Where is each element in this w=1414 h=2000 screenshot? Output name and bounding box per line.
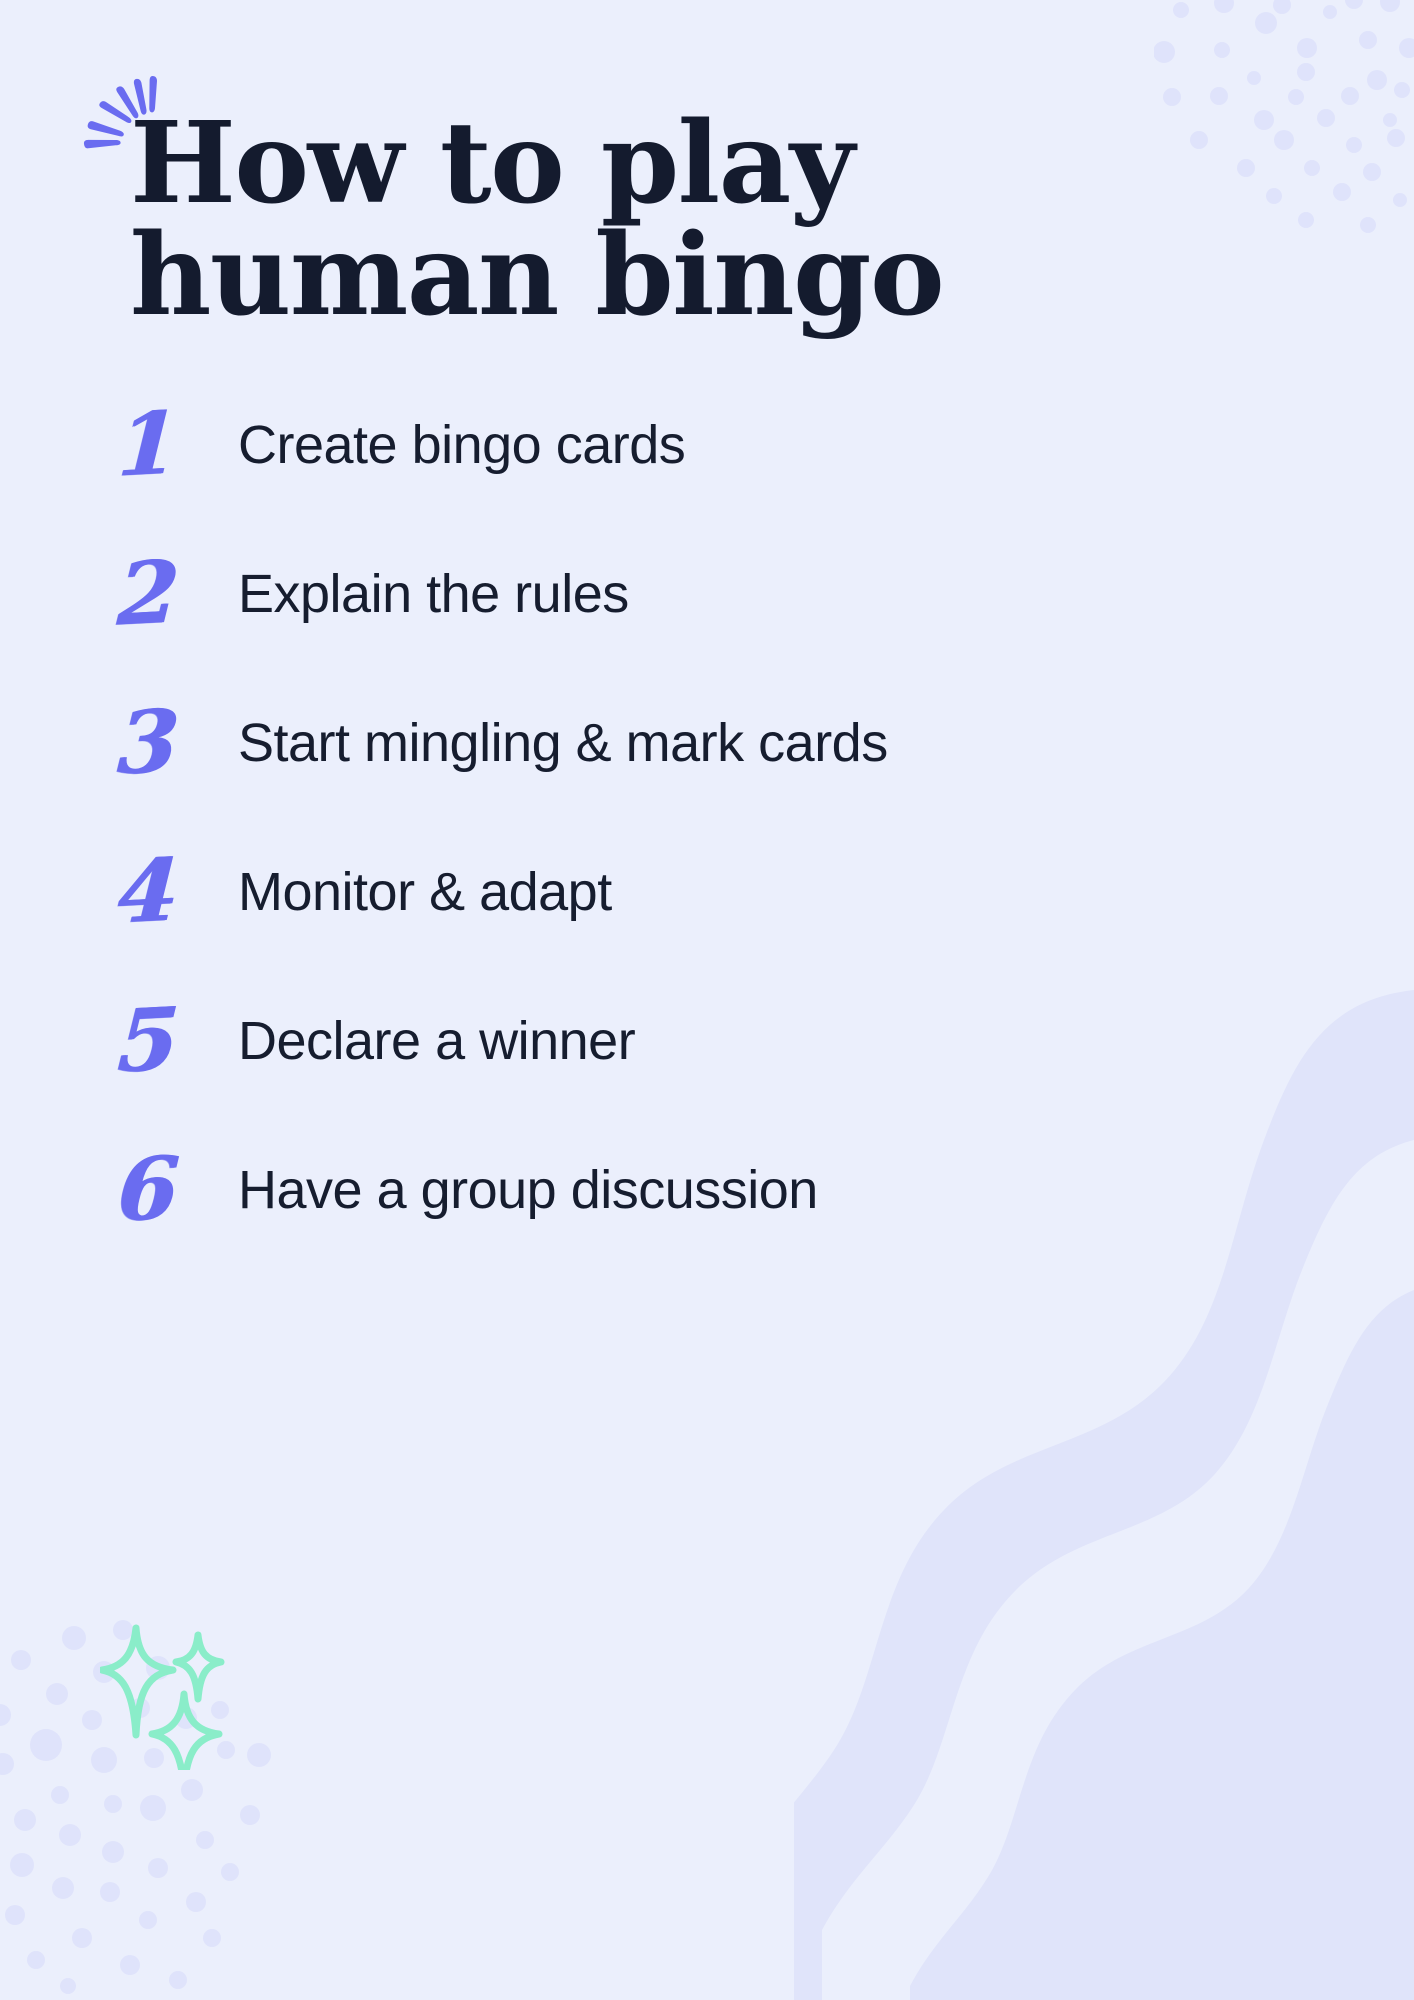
list-item: 6 Have a group discussion [118,1115,1268,1264]
step-number: 1 [116,400,181,489]
list-item: 5 Declare a winner [118,966,1268,1115]
step-label: Explain the rules [238,567,629,621]
step-label: Have a group discussion [238,1163,818,1217]
step-label: Monitor & adapt [238,865,612,919]
step-number-wrap: 5 [118,998,238,1084]
step-number-wrap: 1 [118,402,238,488]
list-item: 4 Monitor & adapt [118,817,1268,966]
page-title: How to play human bingo [130,108,1030,332]
step-number: 5 [116,996,181,1085]
step-number: 2 [116,549,181,638]
steps-list: 1 Create bingo cards 2 Explain the rules… [118,370,1268,1264]
step-number-wrap: 4 [118,849,238,935]
dot-cluster-icon [0,1620,300,2000]
list-item: 1 Create bingo cards [118,370,1268,519]
step-label: Create bingo cards [238,418,685,472]
step-number: 6 [116,1145,181,1234]
step-number-wrap: 2 [118,551,238,637]
step-label: Declare a winner [238,1014,635,1068]
list-item: 3 Start mingling & mark cards [118,668,1268,817]
poster-canvas: How to play human bingo 1 Create bingo c… [0,0,1414,2000]
step-label: Start mingling & mark cards [238,716,888,770]
dot-cluster-icon [1154,0,1414,245]
sparkle-icon [100,1595,230,1770]
list-item: 2 Explain the rules [118,519,1268,668]
step-number: 3 [116,698,181,787]
step-number-wrap: 6 [118,1147,238,1233]
step-number-wrap: 3 [118,700,238,786]
title-block: How to play human bingo [130,108,1030,332]
step-number: 4 [116,847,181,936]
